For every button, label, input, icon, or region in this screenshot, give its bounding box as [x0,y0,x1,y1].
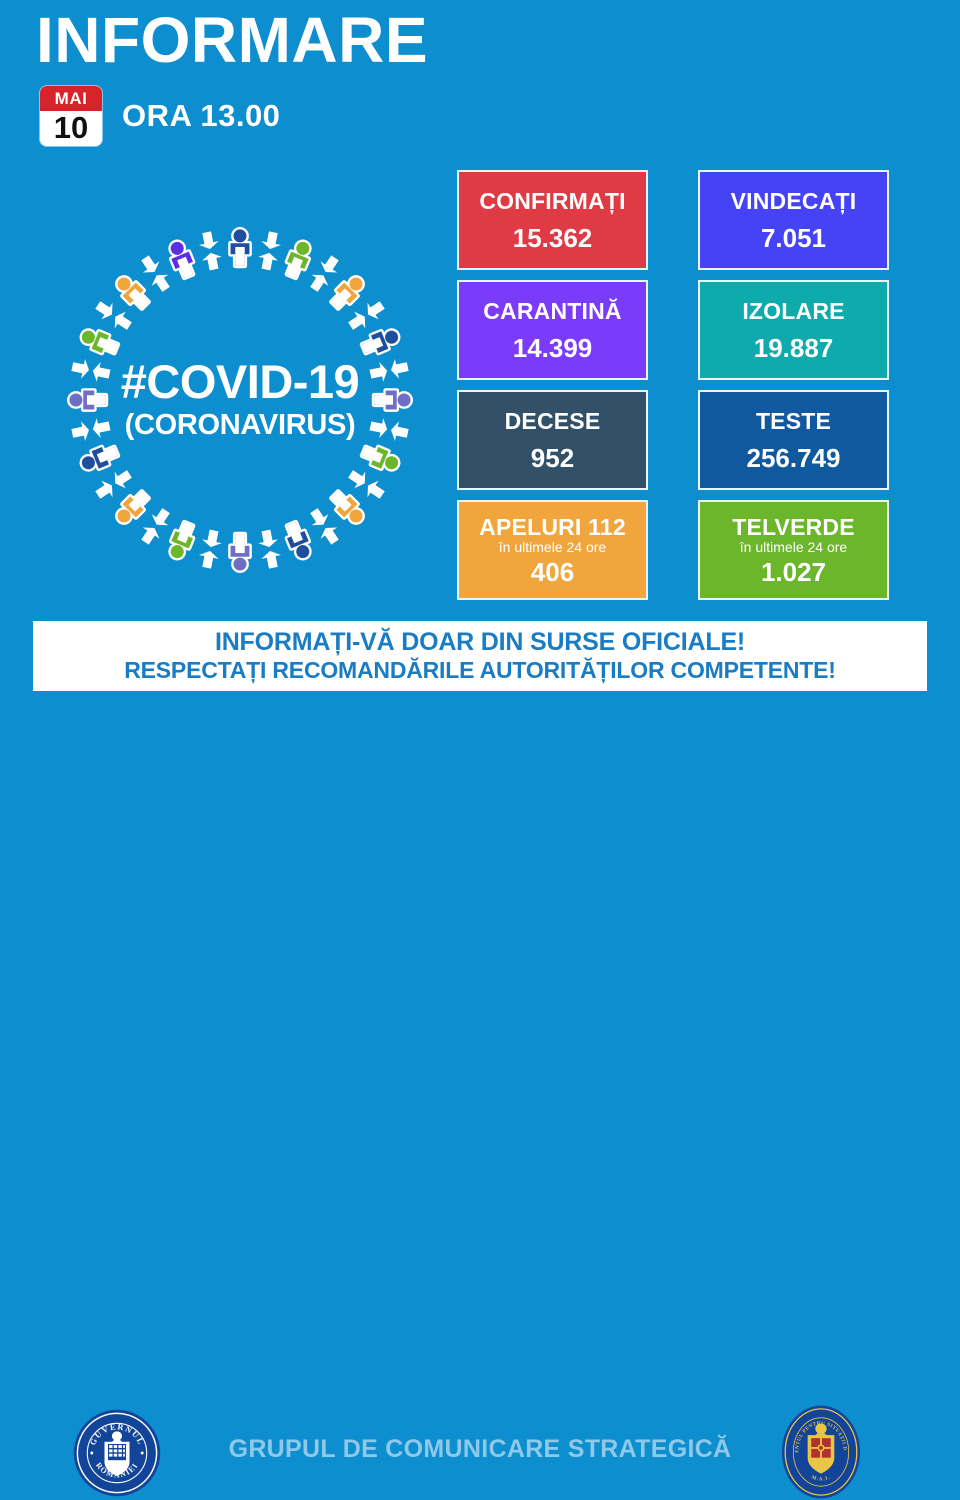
report-hour: ORA 13.00 [122,98,280,134]
person-icon [79,443,120,474]
person-icon [231,229,250,265]
infographic-page: INFORMARE MAI 10 ORA 13.00 #COVID-19 (CO… [0,0,960,805]
card-note: în ultimele 24 ore [499,540,606,555]
card-label: CARANTINĂ [483,299,622,323]
official-sources-banner: INFORMAȚI-VĂ DOAR DIN SURSE OFICIALE! RE… [33,621,927,691]
connector-arrow-icon [368,416,409,443]
footer: GUVERNUL ROMÂNIEI [0,700,960,805]
stat-card-carantina: CARANTINĂ14.399 [457,280,648,380]
calendar-day-label: 10 [40,111,102,146]
banner-line-2: RESPECTAȚI RECOMANDĂRILE AUTORITĂȚILOR C… [124,658,836,683]
person-icon [231,534,250,570]
connector-arrow-icon [197,230,224,271]
date-time-row: MAI 10 ORA 13.00 [40,86,280,146]
card-label: TESTE [756,409,831,433]
person-icon [166,239,197,280]
card-value: 15.362 [513,225,593,251]
person-icon [374,391,410,410]
person-icon [283,239,314,280]
connector-arrow-icon [70,357,111,384]
card-label: CONFIRMAȚI [479,189,625,213]
connector-arrow-icon [197,528,224,569]
card-value: 19.887 [754,335,834,361]
card-note: în ultimele 24 ore [740,540,847,555]
card-value: 14.399 [513,335,593,361]
card-value: 1.027 [761,559,826,585]
card-value: 406 [531,559,574,585]
card-value: 952 [531,445,574,471]
stat-card-teste: TESTE256.749 [698,390,889,490]
card-value: 256.749 [747,445,841,471]
person-icon [360,443,401,474]
footer-organization-name: GRUPUL DE COMUNICARE STRATEGICĂ [0,1435,960,1464]
people-circle-svg [30,190,450,610]
people-circle-icon: #COVID-19 (CORONAVIRUS) [30,190,450,610]
stat-card-decese: DECESE952 [457,390,648,490]
card-label: DECESE [505,409,601,433]
person-icon [360,326,401,357]
person-icon [328,273,367,312]
card-label: APELURI 112 [479,515,626,539]
card-value: 7.051 [761,225,826,251]
card-label: VINDECAȚI [731,189,857,213]
stat-card-confirmati: CONFIRMAȚI15.362 [457,170,648,270]
calendar-month-label: MAI [40,86,102,111]
person-icon [69,391,105,410]
person-icon [113,488,152,527]
stat-card-izolare: IZOLARE19.887 [698,280,889,380]
person-icon [113,273,152,312]
person-icon [79,326,120,357]
banner-line-1: INFORMAȚI-VĂ DOAR DIN SURSE OFICIALE! [215,629,745,657]
stat-card-grid: CONFIRMAȚI15.362VINDECAȚI7.051CARANTINĂ1… [457,170,889,600]
stat-card-telverde: TELVERDEîn ultimele 24 ore1.027 [698,500,889,600]
connector-arrow-icon [256,528,283,569]
person-icon [328,488,367,527]
page-title: INFORMARE [36,8,428,72]
person-icon [283,520,314,561]
stat-card-apeluri-112: APELURI 112în ultimele 24 ore406 [457,500,648,600]
connector-arrow-icon [256,230,283,271]
stat-card-vindecati: VINDECAȚI7.051 [698,170,889,270]
card-label: TELVERDE [732,515,855,539]
connector-arrow-icon [70,416,111,443]
calendar-icon: MAI 10 [40,86,102,146]
connector-arrow-icon [368,357,409,384]
person-icon [166,520,197,561]
card-label: IZOLARE [742,299,844,323]
